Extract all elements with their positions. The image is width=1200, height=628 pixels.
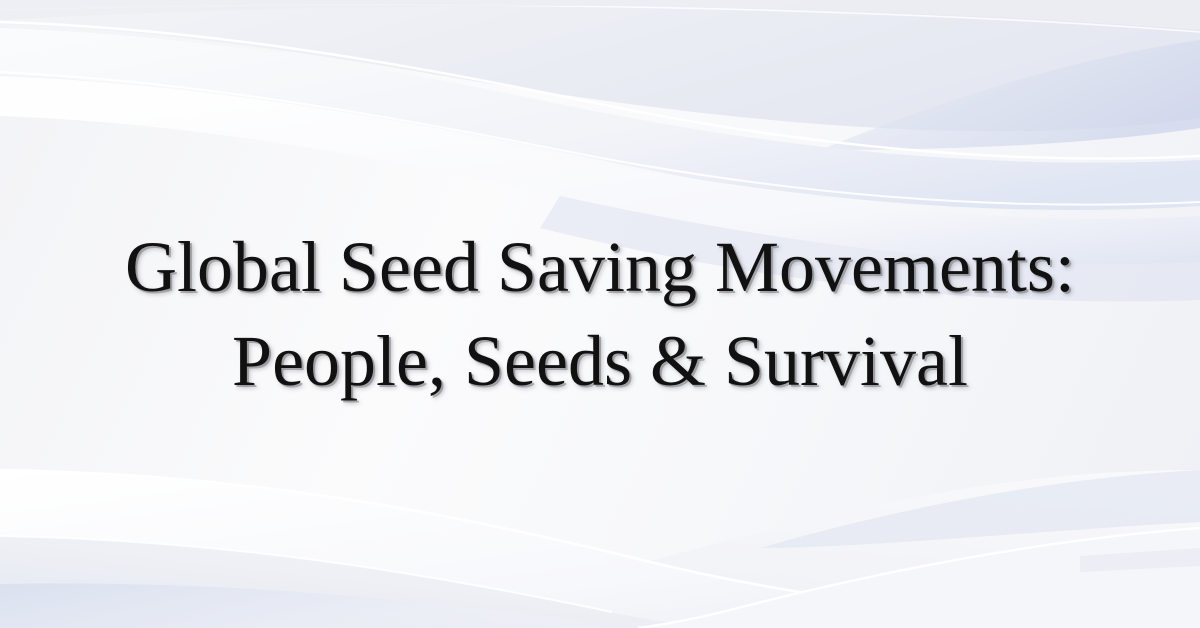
title-block: Global Seed Saving Movements: People, Se… bbox=[0, 0, 1200, 628]
page-title: Global Seed Saving Movements: People, Se… bbox=[100, 220, 1100, 408]
slide-canvas: Global Seed Saving Movements: People, Se… bbox=[0, 0, 1200, 628]
